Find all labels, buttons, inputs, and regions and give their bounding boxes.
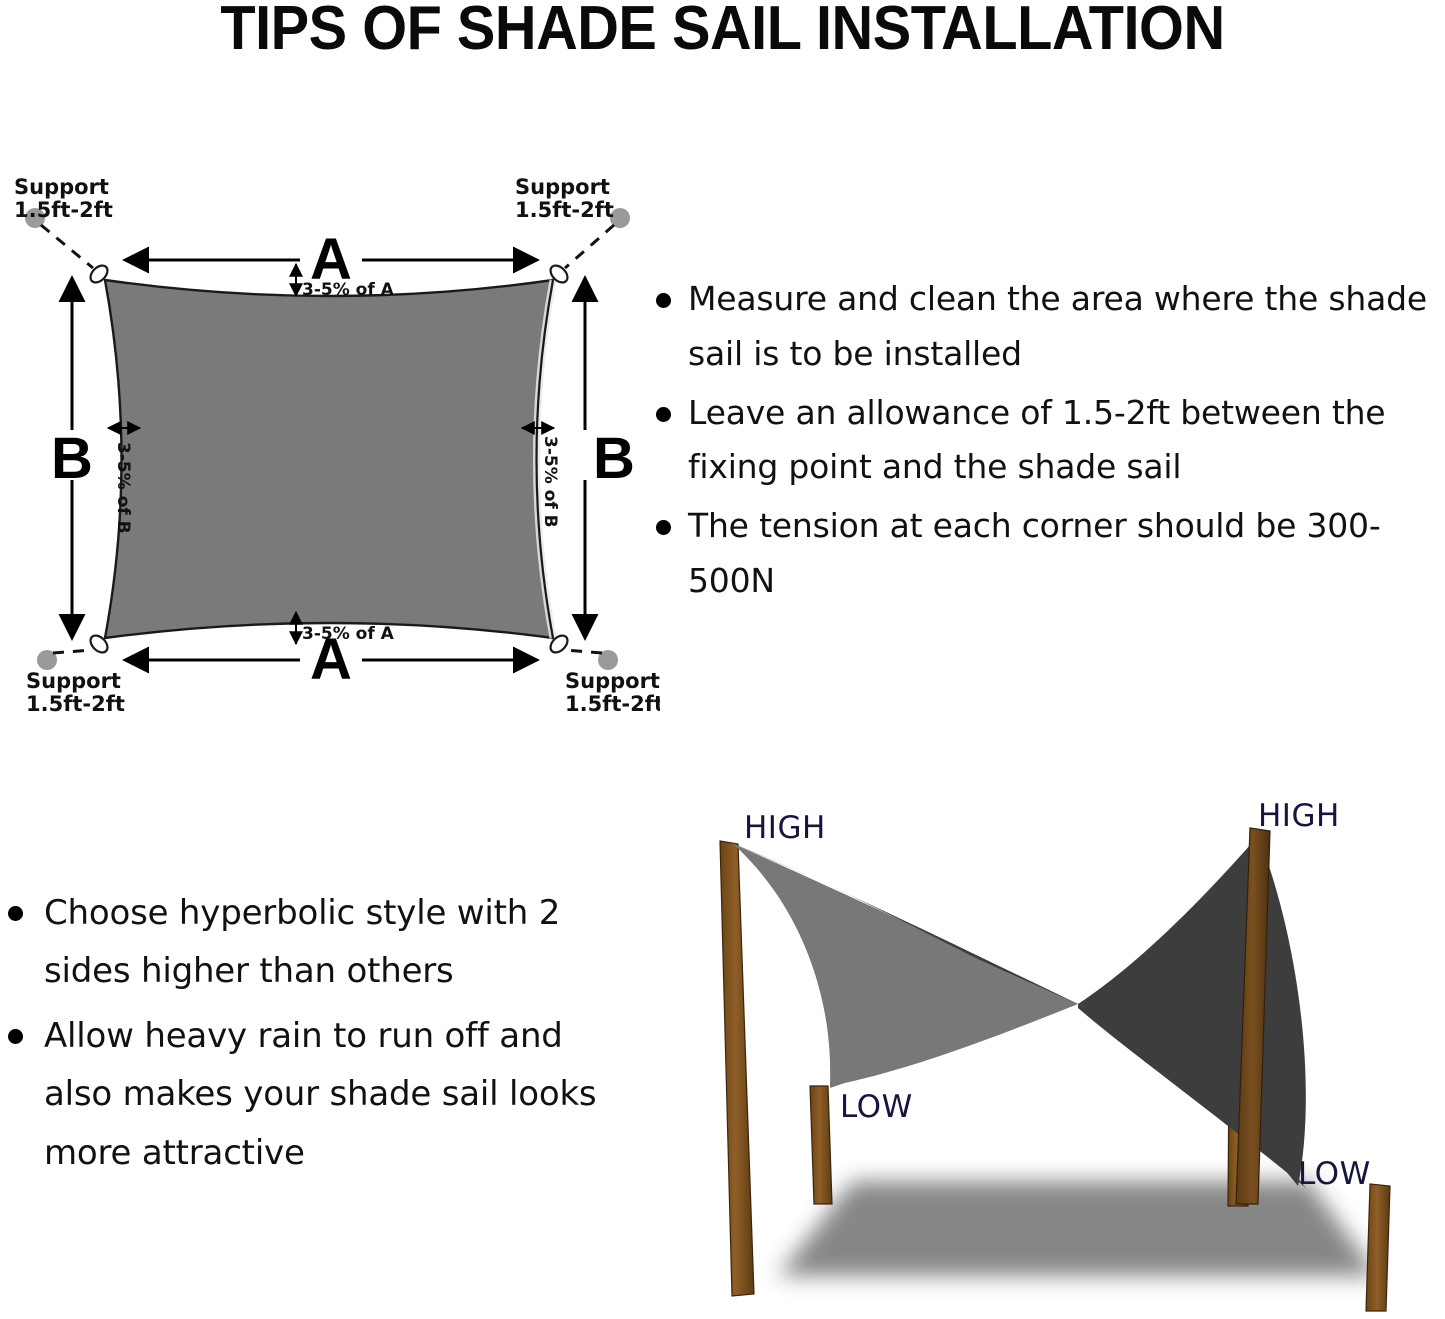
tips-bottom-left-panel: Choose hyperbolic style with 2 sides hig…: [2, 884, 627, 1188]
ground-shadow: [778, 1181, 1378, 1276]
sail-panel-light-overlay: [732, 843, 1078, 1088]
support-label-range: 1.5ft-2ft: [565, 692, 660, 716]
page-title: TIPS OF SHADE SAIL INSTALLATION: [51, 0, 1395, 61]
tips-bottom-left-list: Choose hyperbolic style with 2 sides hig…: [2, 884, 627, 1182]
curvature-label-left: 3-5% of B: [113, 442, 133, 534]
list-item: Leave an allowance of 1.5-2ft between th…: [648, 386, 1445, 496]
support-label-text: Support: [515, 175, 610, 199]
support-label-text: Support: [565, 669, 660, 693]
support-label-text: Support: [26, 669, 121, 693]
support-label-top-left: Support 1.5ft-2ft: [14, 175, 113, 222]
support-label-range: 1.5ft-2ft: [14, 198, 113, 222]
support-label-top-right: Support 1.5ft-2ft: [515, 175, 614, 222]
corner-label-high-left: HIGH: [744, 810, 826, 846]
sail-shape: [105, 280, 553, 638]
dimension-label-b-left: B: [51, 426, 93, 491]
list-item: The tension at each corner should be 300…: [648, 499, 1445, 609]
post-high-left: [720, 841, 754, 1296]
curvature-label-right: 3-5% of B: [540, 436, 560, 528]
corner-label-low-left: LOW: [840, 1089, 913, 1125]
dimension-label-b-right: B: [593, 426, 635, 491]
support-label-text: Support: [14, 175, 109, 199]
list-item: Choose hyperbolic style with 2 sides hig…: [2, 884, 627, 1001]
curvature-label-bottom: 3-5% of A: [302, 624, 395, 644]
support-label-range: 1.5ft-2ft: [26, 692, 125, 716]
support-label-range: 1.5ft-2ft: [515, 198, 614, 222]
corner-label-high-right: HIGH: [1258, 798, 1340, 834]
hyperbolic-sail-diagram: HIGH HIGH LOW LOW: [658, 786, 1445, 1319]
tips-right-list: Measure and clean the area where the sha…: [648, 272, 1445, 609]
post-low-right: [1366, 1184, 1390, 1311]
corner-label-low-right: LOW: [1298, 1156, 1371, 1192]
support-label-bottom-right: Support 1.5ft-2ft: [565, 669, 660, 716]
curvature-label-top: 3-5% of A: [302, 280, 395, 300]
rectangle-sail-diagram: Support 1.5ft-2ft Support 1.5ft-2ft Supp…: [0, 160, 660, 730]
post-low-left: [810, 1086, 832, 1204]
list-item: Measure and clean the area where the sha…: [648, 272, 1445, 382]
list-item: Allow heavy rain to run off and also mak…: [2, 1007, 627, 1182]
support-label-bottom-left: Support 1.5ft-2ft: [26, 669, 125, 716]
tips-right-panel: Measure and clean the area where the sha…: [648, 272, 1445, 613]
